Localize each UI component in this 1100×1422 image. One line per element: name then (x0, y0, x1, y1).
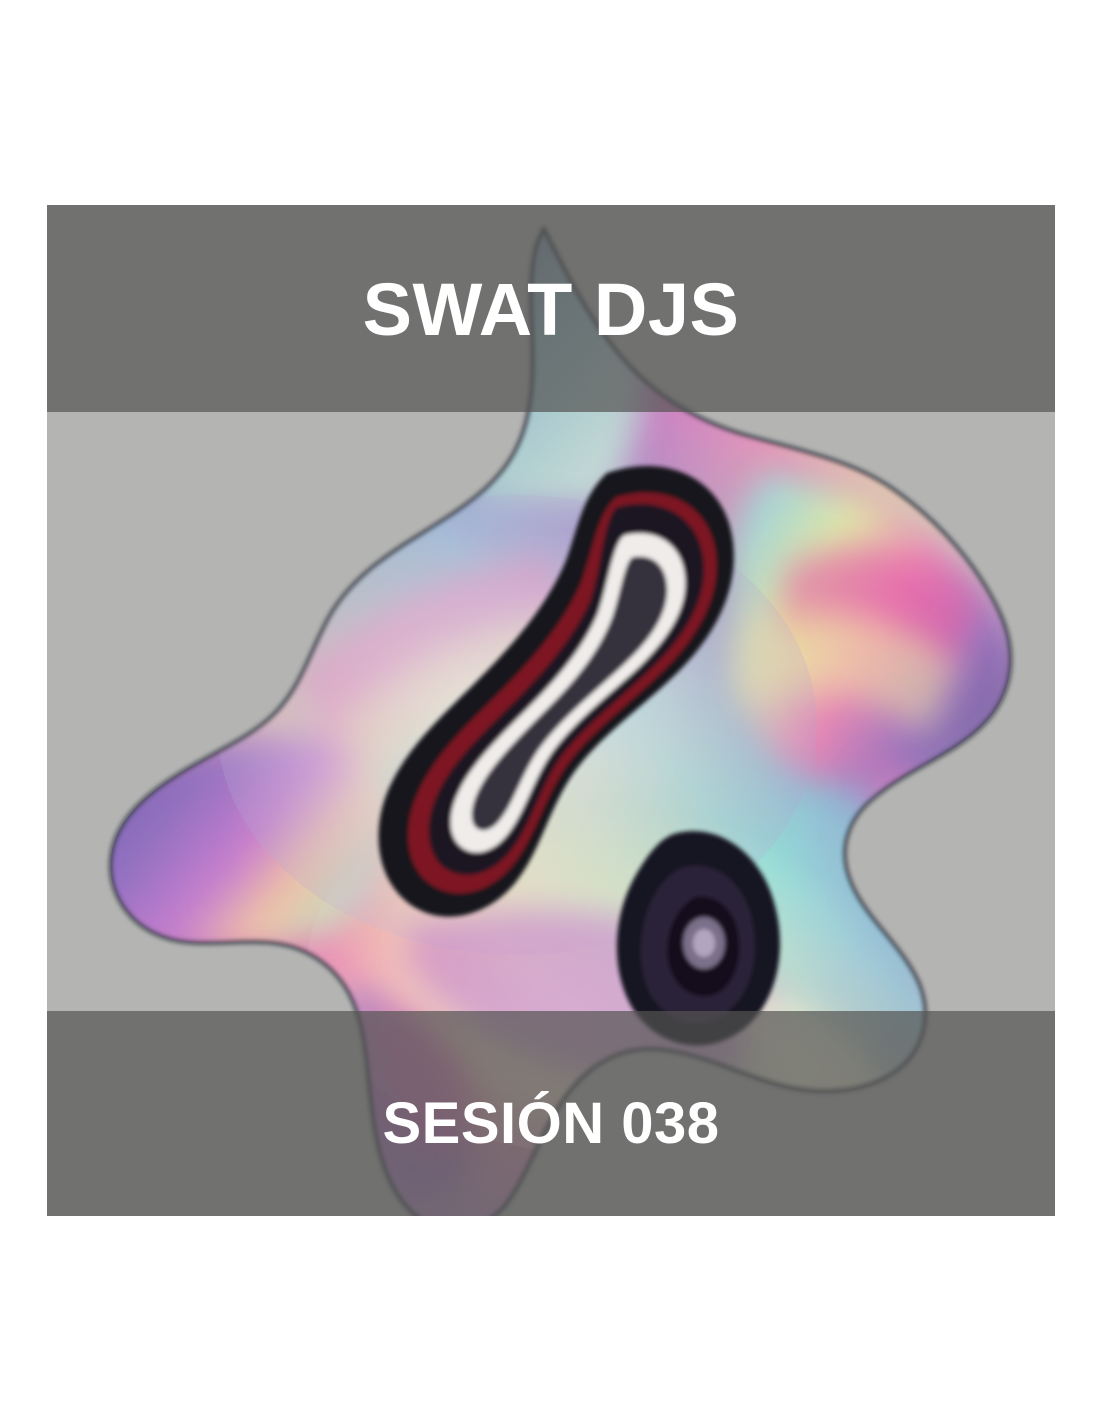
iridescent-blob-graphic (47, 205, 1055, 1216)
page-canvas: SWAT DJS SESIÓN 038 (0, 0, 1100, 1422)
session-title: SESIÓN 038 (47, 1095, 1055, 1153)
album-cover: SWAT DJS SESIÓN 038 (47, 205, 1055, 1216)
bottom-title-container: SESIÓN 038 (47, 1095, 1055, 1153)
teardrop-core-inner (693, 929, 715, 957)
top-title-container: SWAT DJS (47, 273, 1055, 347)
artist-title: SWAT DJS (47, 273, 1055, 347)
wash-right-rim-magenta (867, 765, 987, 905)
wash-top-spike (473, 205, 651, 505)
